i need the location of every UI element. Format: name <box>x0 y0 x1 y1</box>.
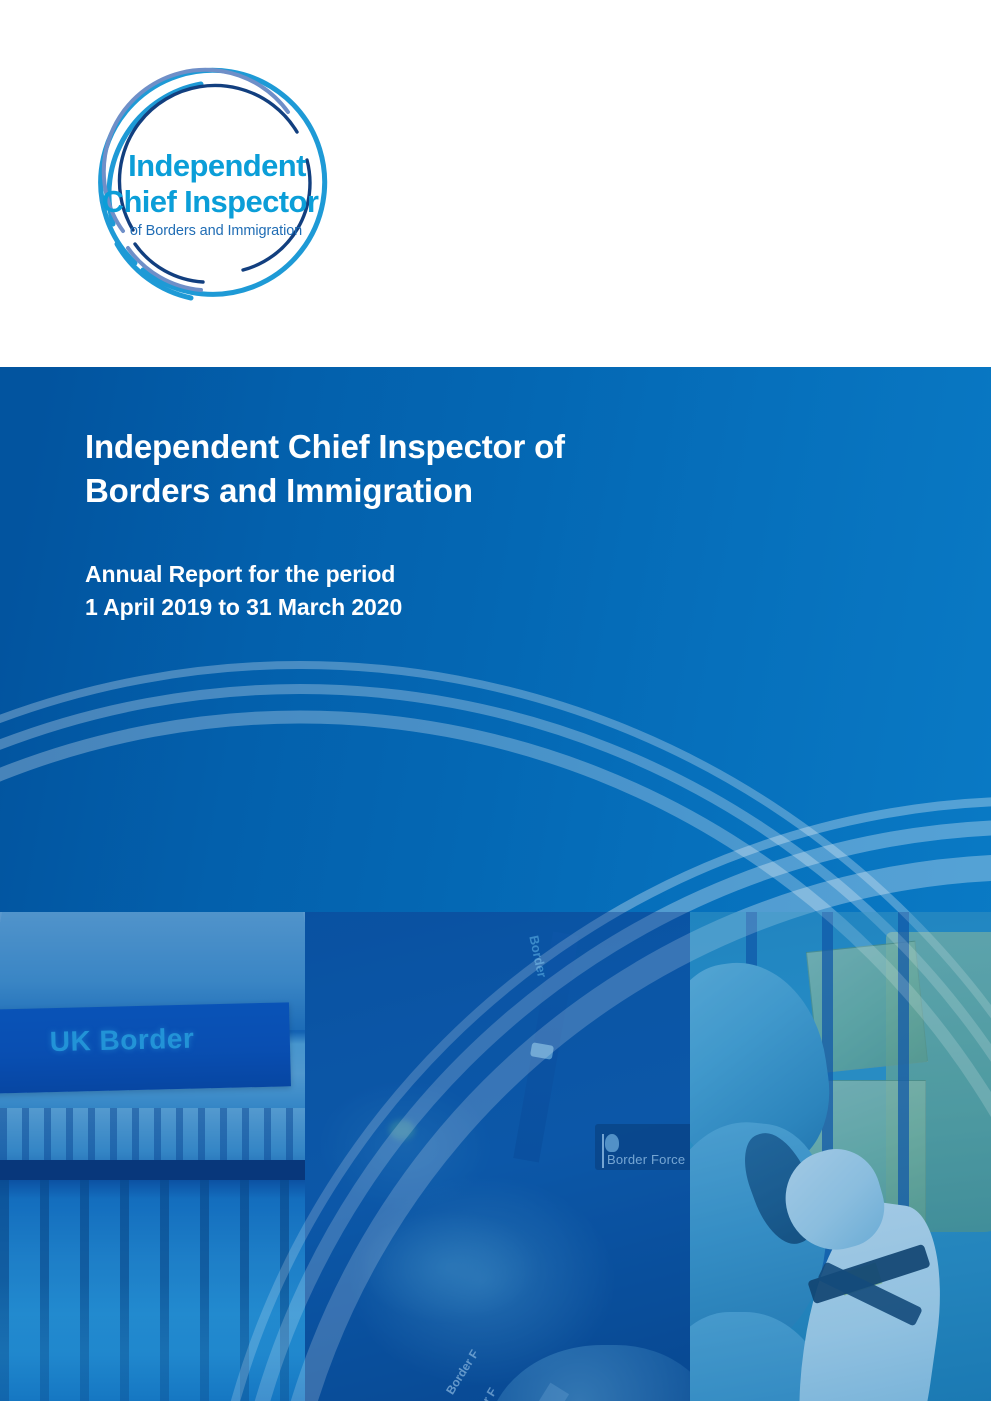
cover-subtitle-line-1: Annual Report for the period <box>85 558 705 591</box>
logo-line-2: Chief Inspector <box>71 184 349 220</box>
header-band: Independent Chief Inspector of Borders a… <box>0 0 991 367</box>
cover-title-line-2: Borders and Immigration <box>85 469 705 513</box>
logo-line-3: of Borders and Immigration <box>89 223 343 239</box>
cover-title-line-1: Independent Chief Inspector of <box>85 425 705 469</box>
report-cover-page: Independent Chief Inspector of Borders a… <box>0 0 991 1401</box>
cover-title-block: Independent Chief Inspector of Borders a… <box>85 425 705 623</box>
cover-subtitle-block: Annual Report for the period 1 April 201… <box>85 558 705 623</box>
icibi-logo: Independent Chief Inspector of Borders a… <box>83 48 348 313</box>
photo-dog <box>690 912 991 1401</box>
logo-line-1: Independent <box>97 148 337 184</box>
photo-queue <box>0 1160 305 1401</box>
cover-blue-panel: UK Border Borde <box>0 367 991 1401</box>
cover-subtitle-line-2: 1 April 2019 to 31 March 2020 <box>85 591 705 624</box>
photo-passport: Border Border Force Border F Border F <box>305 912 690 1401</box>
photo-queue-tint <box>0 1160 305 1401</box>
photo-dog-tint <box>690 912 991 1401</box>
photo-passport-tint <box>305 912 690 1401</box>
